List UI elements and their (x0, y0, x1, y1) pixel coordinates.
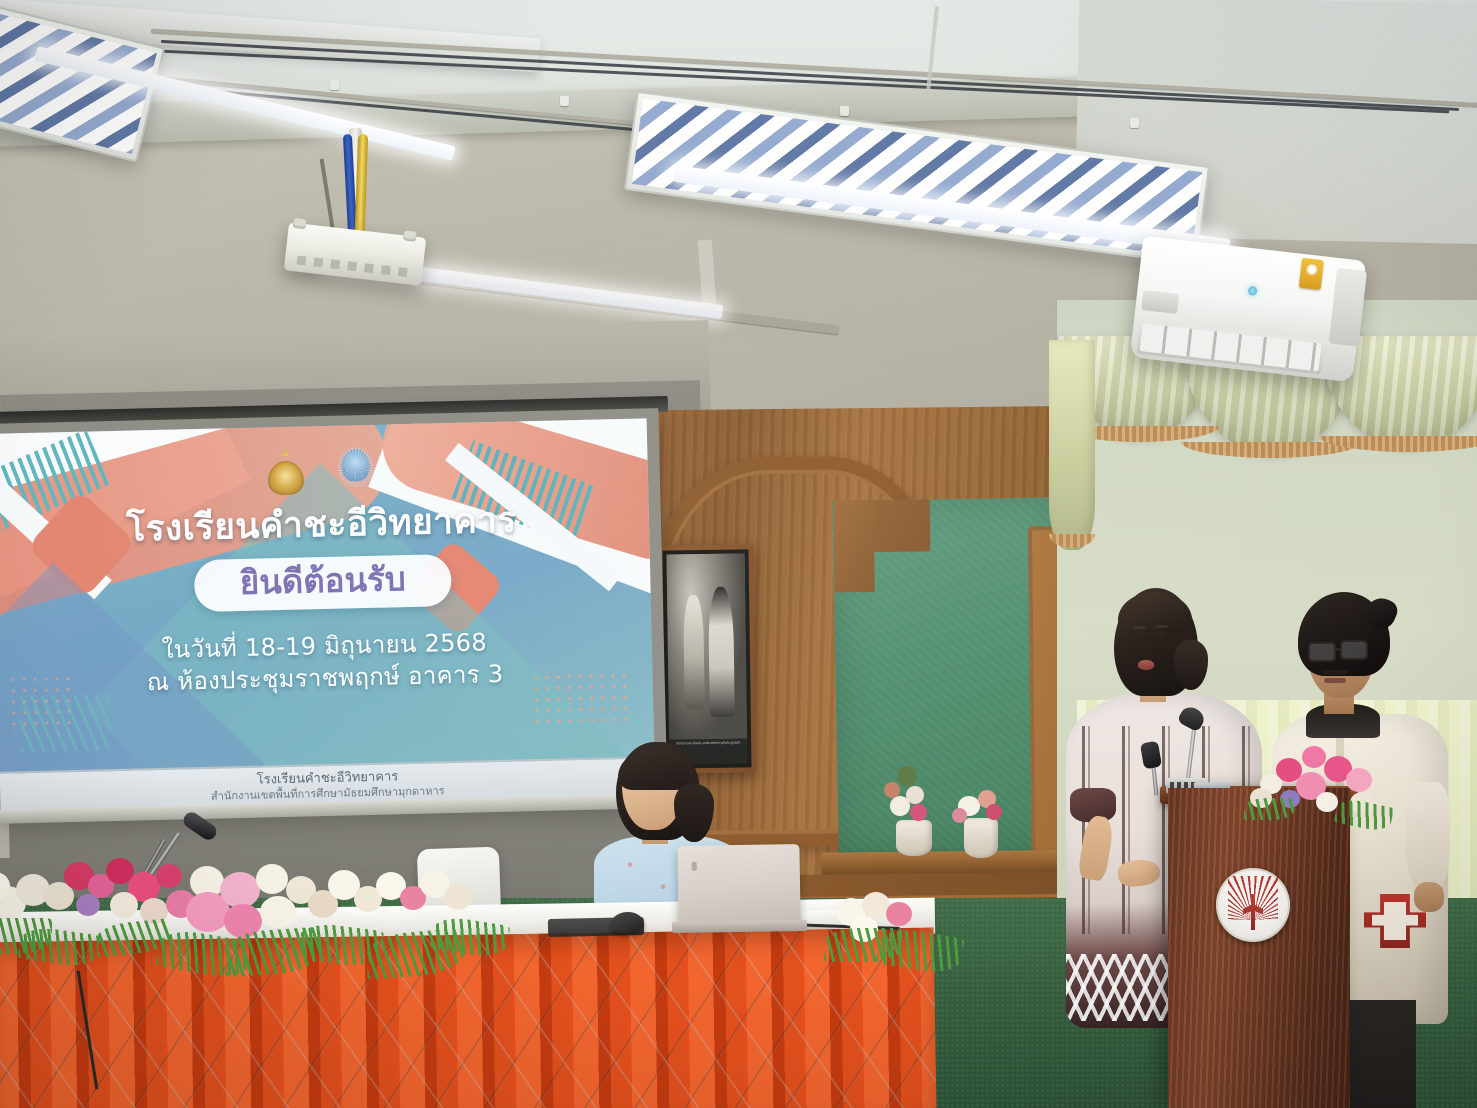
cable-clip (1130, 118, 1139, 128)
ac-brand-badge (1141, 290, 1179, 314)
projector-mount-foot (403, 230, 417, 241)
slide-content: โรงเรียนคำชะอีวิทยาคาร ยินดีต้อนรับ ในวั… (0, 418, 655, 788)
table-flower-arrangement-right (830, 892, 960, 972)
wood-notch-trim (834, 500, 875, 592)
flower-bloom (156, 864, 182, 888)
man-mouth (1324, 678, 1346, 683)
framed-photograph: historical-black-and-white-photograph (657, 544, 756, 773)
flower-bloom (910, 804, 927, 821)
laptop[interactable] (672, 845, 807, 937)
flower-bloom (986, 804, 1002, 820)
flower-bloom (1302, 746, 1326, 768)
eyeglasses-icon (1340, 640, 1368, 660)
flower-bloom (886, 902, 912, 926)
vase-body (896, 820, 932, 856)
flower-bloom (110, 892, 138, 918)
laptop-hinge-detail (692, 862, 697, 871)
fern-foliage (1334, 796, 1394, 833)
woman-eyebrow (1155, 625, 1168, 628)
cable-clip (330, 80, 339, 90)
podium-wood-grain (1168, 788, 1350, 1108)
historical-photo-image (667, 553, 748, 739)
foliage (898, 766, 916, 786)
flower-bloom (952, 808, 967, 823)
slide-title: โรงเรียนคำชะอีวิทยาคาร (126, 501, 517, 549)
cable-clip (560, 96, 569, 106)
projector-mount-foot (293, 218, 307, 229)
fern-foliage (876, 926, 965, 977)
laptop-lid (677, 844, 800, 924)
speaking-podium (1168, 788, 1350, 1108)
man-hand (1414, 882, 1444, 912)
flower-vase-right (950, 768, 1020, 858)
podium-flower-arrangement (1250, 740, 1390, 830)
slide-welcome-pill: ยินดีต้อนรับ (193, 554, 452, 612)
woman-hair-bun (1174, 640, 1208, 690)
flower-bloom (76, 894, 100, 916)
air-conditioner-unit (1130, 236, 1366, 383)
flower-bloom (1316, 792, 1338, 812)
ministry-of-education-emblem-icon (335, 447, 376, 498)
flower-bloom (444, 884, 472, 910)
woman-eye (1134, 632, 1145, 637)
ac-status-led-icon (1248, 286, 1258, 296)
royal-crest-emblem-icon (265, 448, 306, 499)
cable-clip (840, 106, 849, 116)
projection-screen: โรงเรียนคำชะอีวิทยาคาร ยินดีต้อนรับ ในวั… (0, 408, 668, 814)
flower-bloom (906, 786, 924, 804)
lily-bloom (220, 872, 260, 908)
projector-body (284, 222, 427, 285)
conference-room-photo: historical-black-and-white-photograph (0, 0, 1477, 1108)
eyeglasses-bridge (1335, 648, 1342, 651)
flower-bloom (256, 864, 288, 894)
flower-vase-left (880, 760, 950, 856)
fern-foliage (18, 925, 100, 970)
curtain-jabot-left (1049, 340, 1095, 550)
podium-ministry-seal-icon (1216, 868, 1290, 942)
woman-mouth (1138, 660, 1154, 670)
vase-body (964, 818, 998, 858)
man-arm (1406, 782, 1450, 892)
laptop-base (672, 920, 807, 933)
fern-foliage (1244, 798, 1294, 820)
presentation-slide: โรงเรียนคำชะอีวิทยาคาร ยินดีต้อนรับ ในวั… (0, 418, 655, 788)
flower-bloom (1346, 768, 1372, 792)
table-flower-arrangement-left (0, 846, 500, 996)
woman-eyebrow (1133, 626, 1146, 629)
slide-emblem-row (265, 447, 376, 500)
energy-label-sticker (1299, 258, 1324, 290)
man-mustache (1322, 670, 1348, 675)
flower-bloom (884, 782, 900, 798)
eyeglasses-icon (1308, 642, 1336, 662)
photo-matte: historical-black-and-white-photograph (662, 549, 751, 768)
woman-eye (1156, 631, 1167, 636)
ceiling-projector (286, 128, 426, 288)
slide-welcome-text: ยินดีต้อนรับ (239, 561, 406, 601)
